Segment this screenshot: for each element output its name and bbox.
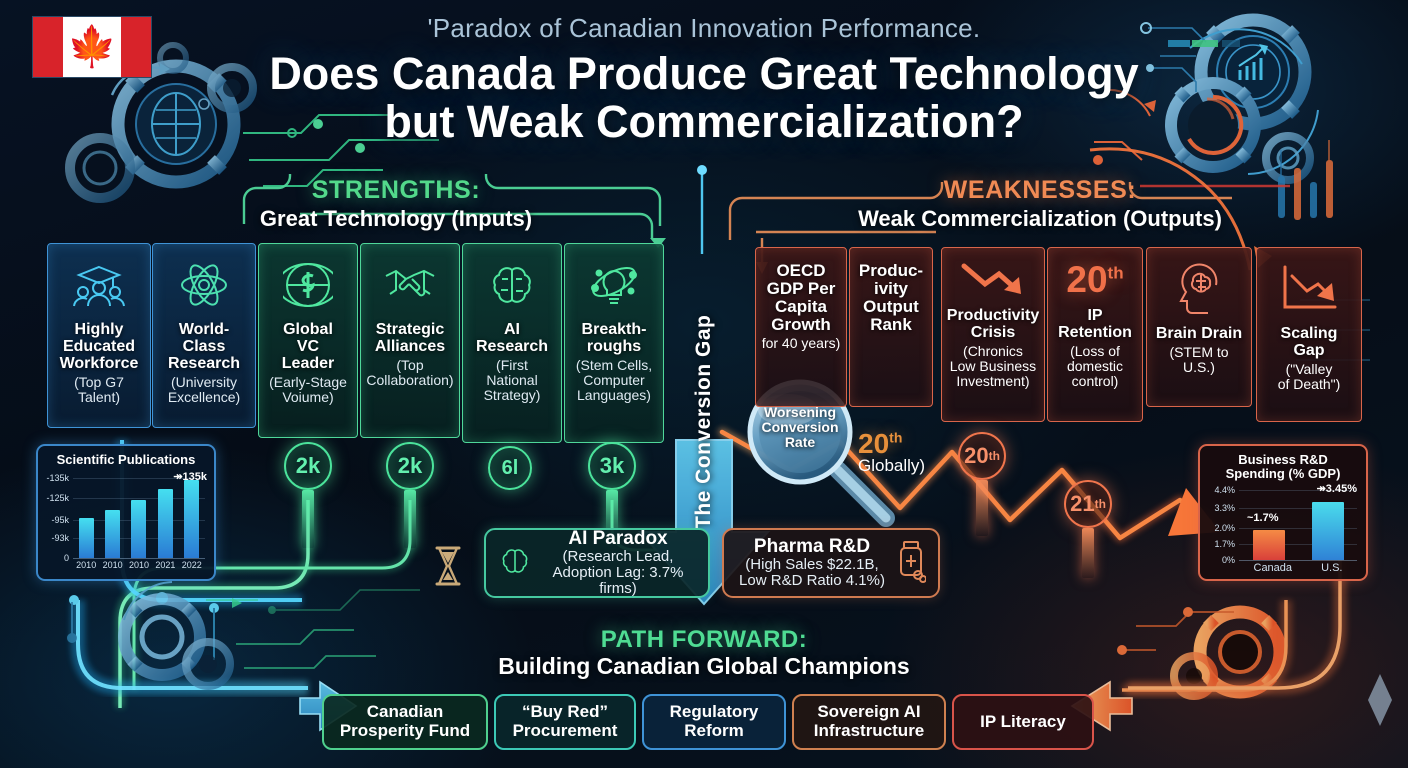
brain-icon (498, 546, 532, 581)
x-tick: 2022 (182, 560, 202, 570)
weakness-card-sub: for 40 years) (762, 336, 841, 351)
weakness-badge-21th: 21th (1064, 480, 1112, 578)
weakness-card-title: IP Retention (1058, 308, 1132, 342)
bar (79, 518, 94, 558)
hourglass-icon (437, 548, 459, 584)
badge-stem (1082, 528, 1094, 578)
path-forward-subtitle: Building Canadian Global Champions (0, 653, 1408, 680)
callout-text: Pharma R&D (High Sales $22.1B, Low R&D R… (736, 537, 888, 589)
strength-badge-value: 2k (284, 442, 332, 490)
weakness-card-sub: (STEM to U.S.) (1152, 345, 1246, 375)
bar (1312, 502, 1344, 560)
atom-icon (179, 254, 229, 316)
strength-badge-value: 2k (386, 442, 434, 490)
badge-stem (404, 490, 416, 548)
bar (131, 500, 146, 558)
strength-card-title: Global VC Leader (282, 322, 334, 373)
path-forward-item-buy-red[interactable]: “Buy Red” Procurement (494, 694, 636, 750)
strength-card-breakthroughs[interactable]: Breakth- roughs (Stem Cells, Computer La… (564, 243, 664, 443)
weaknesses-kicker: WEAKNESSES: (760, 176, 1320, 205)
strength-badge-ai: 6l (488, 446, 532, 490)
y-tick: 4.4% (1214, 485, 1239, 495)
strength-card-sub: (Top Collaboration) (366, 358, 453, 388)
strength-card-sub: (First National Strategy) (484, 358, 541, 402)
callout-sub: (High Sales $22.1B, Low R&D Ratio 4.1%) (736, 557, 888, 589)
business-rd-chart[interactable]: Business R&D Spending (% GDP) 4.4% 3.3% … (1198, 444, 1368, 581)
page-title-line-2: but Weak Commercialization? (0, 98, 1408, 146)
strength-card-sub: (Early-Stage Voiume) (269, 375, 347, 405)
rank-number-20th: 20th (1066, 258, 1123, 302)
strength-card-title: AI Research (476, 322, 548, 356)
callout-text: AI Paradox (Research Lead, Adoption Lag:… (540, 529, 696, 597)
brain-head-icon (1172, 258, 1226, 320)
strength-card-ai-research[interactable]: AI Research (First National Strategy) (462, 243, 562, 443)
weakness-card-title: Scaling Gap (1281, 326, 1338, 360)
strengths-subtitle: Great Technology (Inputs) (186, 206, 606, 232)
page-kicker: 'Paradox of Canadian Innovation Performa… (0, 13, 1408, 44)
strength-badge-value: 3k (588, 442, 636, 490)
weakness-card-title: Productivity Crisis (947, 308, 1039, 342)
y-tick: 3.3% (1214, 503, 1239, 513)
weakness-badge-value: 20th (958, 432, 1006, 480)
weakness-card-title: Brain Drain (1156, 326, 1242, 343)
badge-stem (976, 480, 988, 536)
declining-chart-icon (1278, 258, 1340, 320)
weakness-card-title: Produc- ivity Output Rank (855, 262, 927, 334)
bar (158, 489, 173, 558)
strength-card-research[interactable]: World-Class Research (University Excelle… (152, 243, 256, 428)
chart-bars (73, 472, 205, 558)
y-tick: -95k (51, 515, 73, 525)
path-forward-item-sovereign-ai[interactable]: Sovereign AI Infrastructure (792, 694, 946, 750)
chart-x-axis: 2010 2010 2010 2021 2022 (73, 558, 205, 570)
weakness-card-sub: (Loss of domestic control) (1067, 344, 1123, 388)
dollar-globe-icon (283, 254, 333, 316)
weaknesses-subtitle: Weak Commercialization (Outputs) (760, 206, 1320, 232)
callout-ai-paradox[interactable]: AI Paradox (Research Lead, Adoption Lag:… (484, 528, 710, 598)
callout-pharma-rd[interactable]: Pharma R&D (High Sales $22.1B, Low R&D R… (722, 528, 940, 598)
weakness-card-brain-drain[interactable]: Brain Drain (STEM to U.S.) (1146, 247, 1252, 407)
strength-card-title: Highly Educated Workforce (60, 322, 139, 373)
x-tick: 2010 (129, 560, 149, 570)
x-tick: 2021 (155, 560, 175, 570)
path-forward-header: PATH FORWARD: Building Canadian Global C… (0, 626, 1408, 680)
weakness-card-oecd-gdp[interactable]: OECD GDP Per Capita Growth for 40 years) (755, 247, 847, 407)
strength-card-title: World-Class Research (158, 322, 250, 373)
weakness-card-title: OECD GDP Per Capita Growth (761, 262, 841, 334)
weakness-card-productivity-crisis[interactable]: Productivity Crisis (Chronics Low Busine… (941, 247, 1045, 422)
weakness-card-scaling-gap[interactable]: Scaling Gap ("Valley of Death") (1256, 247, 1362, 422)
ip-rank-number: 20th (1066, 262, 1123, 297)
weakness-badge-value: 21th (1064, 480, 1112, 528)
strengths-kicker: STRENGTHS: (186, 176, 606, 205)
path-forward-kicker: PATH FORWARD: (0, 626, 1408, 654)
weakness-card-sub: ("Valley of Death") (1278, 362, 1341, 392)
infographic-root: 🍁 'Paradox of Canadian Innovation Perfor… (0, 0, 1408, 768)
weakness-card-ip-retention[interactable]: 20th IP Retention (Loss of domestic cont… (1047, 247, 1143, 422)
page-title-line-1: Does Canada Produce Great Technology (0, 50, 1408, 98)
x-tick: 2010 (76, 560, 96, 570)
y-tick: 2.0% (1214, 523, 1239, 533)
y-tick: 1.7% (1214, 539, 1239, 549)
badge-stem (302, 490, 314, 548)
page-title: Does Canada Produce Great Technology but… (0, 50, 1408, 145)
strength-card-title: Strategic Alliances (375, 322, 445, 356)
chart-bars (1239, 486, 1357, 560)
weaknesses-header: WEAKNESSES: Weak Commercialization (Outp… (760, 176, 1320, 232)
scientific-publications-chart[interactable]: Scientific Publications -135k -125k -95k… (36, 444, 216, 581)
brain-icon (489, 254, 535, 316)
y-tick: 0 (64, 553, 73, 563)
strengths-header: STRENGTHS: Great Technology (Inputs) (186, 176, 606, 232)
callout-title: Pharma R&D (736, 537, 888, 557)
chart-x-axis: Canada U.S. (1239, 560, 1357, 574)
weakness-badge-20th: 20th (958, 432, 1006, 536)
bar (1253, 530, 1285, 560)
bar (105, 510, 120, 558)
chart-plot-area: 4.4% 3.3% 2.0% 1.7% 0% ~1.7% ↠3.45% (1239, 486, 1357, 560)
strength-card-vc-leader[interactable]: Global VC Leader (Early-Stage Voiume) (258, 243, 358, 438)
strength-card-sub: (University Excellence) (168, 375, 240, 405)
x-tick: 2010 (103, 560, 123, 570)
y-tick: -135k (46, 473, 73, 483)
strength-card-workforce[interactable]: Highly Educated Workforce (Top G7 Talent… (47, 243, 151, 428)
chart-title: Business R&D Spending (% GDP) (1209, 453, 1357, 482)
chart-title: Scientific Publications (47, 453, 205, 467)
callout-sub: (Research Lead, Adoption Lag: 3.7% firms… (540, 549, 696, 597)
center-connector-line (697, 165, 707, 254)
global-rank-annotation: 20th Globally) (858, 428, 925, 476)
y-tick: -93k (51, 533, 73, 543)
y-tick: 0% (1222, 555, 1239, 565)
magnifier-label: Worsening Conversion Rate (752, 405, 848, 450)
strength-card-title: Breakth- roughs (582, 322, 647, 356)
strength-badge-value: 6l (488, 446, 532, 490)
weakness-card-sub: (Chronics Low Business Investment) (950, 344, 1036, 388)
lightbulb-atom-icon (588, 254, 640, 316)
path-forward-item-ip-literacy[interactable]: IP Literacy (952, 694, 1094, 750)
conversion-gap-label: The Conversion Gap (686, 272, 722, 572)
path-forward-item-prosperity-fund[interactable]: Canadian Prosperity Fund (322, 694, 488, 750)
strength-card-sub: (Stem Cells, Computer Languages) (576, 358, 652, 402)
x-tick: Canada (1254, 562, 1293, 574)
strength-card-sub: (Top G7 Talent) (53, 375, 145, 405)
strength-badge-alliances: 2k (386, 442, 434, 548)
strength-card-alliances[interactable]: Strategic Alliances (Top Collaboration) (360, 243, 460, 438)
chart-plot-area: -135k -125k -95k -93k 0 ↠135k (73, 472, 205, 558)
medicine-bottle-icon (896, 539, 926, 588)
down-arrow-icon (959, 258, 1027, 302)
path-forward-item-regulatory-reform[interactable]: Regulatory Reform (642, 694, 786, 750)
strength-badge-vc: 2k (284, 442, 332, 548)
weakness-card-productivity-rank[interactable]: Produc- ivity Output Rank (849, 247, 933, 407)
handshake-icon (383, 254, 437, 316)
x-tick: U.S. (1321, 562, 1342, 574)
bar (184, 480, 199, 558)
global-rank-label: Globally) (858, 456, 925, 476)
y-tick: -125k (46, 493, 73, 503)
callout-title: AI Paradox (540, 529, 696, 549)
graduation-cap-people-icon (72, 254, 126, 316)
